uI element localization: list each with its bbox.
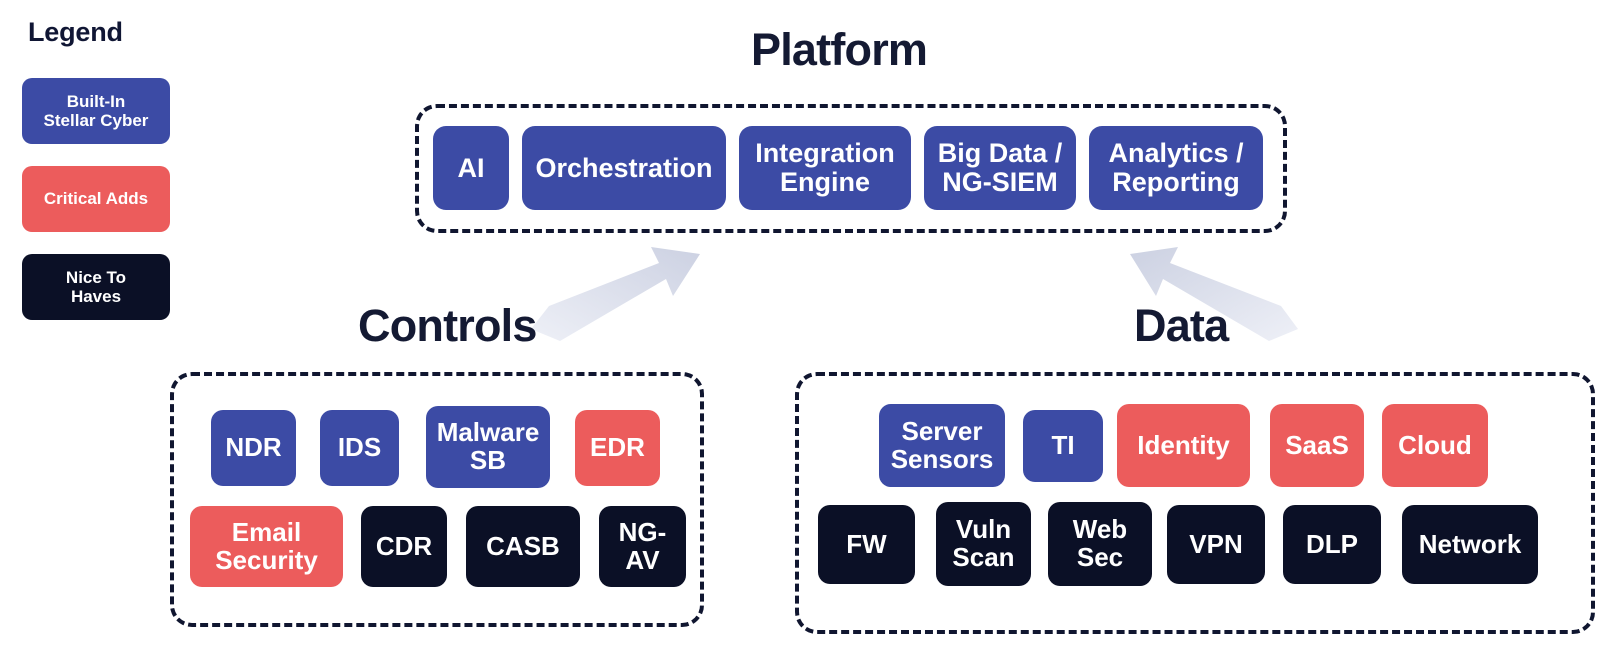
node-label: AI (458, 154, 485, 183)
node-label: VPN (1189, 531, 1242, 559)
controls-node-ids[interactable]: IDS (320, 410, 399, 486)
controls-node-malware-sb[interactable]: Malware SB (426, 406, 550, 488)
data-node-saas[interactable]: SaaS (1270, 404, 1364, 487)
legend-item-label: Built-In Stellar Cyber (44, 92, 149, 130)
platform-node-ai[interactable]: AI (433, 126, 509, 210)
diagram-canvas: Legend Built-In Stellar Cyber Critical A… (0, 0, 1604, 646)
platform-section-title: Platform (751, 24, 927, 76)
controls-node-edr[interactable]: EDR (575, 410, 660, 486)
node-label: EDR (590, 434, 645, 462)
node-label: Integration Engine (755, 139, 895, 196)
node-label: Cloud (1398, 432, 1472, 460)
node-label: Vuln Scan (952, 516, 1014, 571)
legend-item-label: Critical Adds (44, 189, 148, 208)
node-label: Orchestration (535, 154, 712, 183)
data-section-title: Data (1134, 300, 1228, 352)
data-node-server-sensors[interactable]: Server Sensors (879, 404, 1005, 487)
data-node-vpn[interactable]: VPN (1167, 505, 1265, 584)
data-node-identity[interactable]: Identity (1117, 404, 1250, 487)
data-node-dlp[interactable]: DLP (1283, 505, 1381, 584)
node-label: DLP (1306, 531, 1358, 559)
controls-section-title: Controls (358, 300, 537, 352)
node-label: Identity (1137, 432, 1229, 460)
node-label: Big Data / NG-SIEM (938, 139, 1063, 196)
data-node-cloud[interactable]: Cloud (1382, 404, 1488, 487)
controls-node-email-security[interactable]: Email Security (190, 506, 343, 587)
platform-node-big-data-ng-siem[interactable]: Big Data / NG-SIEM (924, 126, 1076, 210)
data-node-ti[interactable]: TI (1023, 410, 1103, 482)
data-node-web-sec[interactable]: Web Sec (1048, 502, 1152, 586)
controls-node-cdr[interactable]: CDR (361, 506, 447, 587)
legend-item-nice-to-haves[interactable]: Nice To Haves (22, 254, 170, 320)
data-node-fw[interactable]: FW (818, 505, 915, 584)
node-label: Email Security (215, 519, 318, 574)
controls-node-ndr[interactable]: NDR (211, 410, 296, 486)
legend-title: Legend (28, 17, 123, 48)
controls-to-platform-arrow (531, 247, 700, 341)
node-label: NDR (225, 434, 281, 462)
data-node-network[interactable]: Network (1402, 505, 1538, 584)
platform-node-orchestration[interactable]: Orchestration (522, 126, 726, 210)
node-label: TI (1051, 432, 1074, 460)
node-label: IDS (338, 434, 381, 462)
node-label: Malware SB (437, 419, 540, 474)
node-label: NG- AV (619, 519, 667, 574)
node-label: FW (846, 531, 886, 559)
controls-node-ng-av[interactable]: NG- AV (599, 506, 686, 587)
platform-node-integration-engine[interactable]: Integration Engine (739, 126, 911, 210)
legend-item-built-in-stellar-cyber[interactable]: Built-In Stellar Cyber (22, 78, 170, 144)
data-node-vuln-scan[interactable]: Vuln Scan (936, 502, 1031, 586)
node-label: SaaS (1285, 432, 1349, 460)
legend-item-critical-adds[interactable]: Critical Adds (22, 166, 170, 232)
node-label: Server Sensors (891, 418, 994, 473)
node-label: CASB (486, 533, 560, 561)
node-label: CDR (376, 533, 432, 561)
controls-node-casb[interactable]: CASB (466, 506, 580, 587)
node-label: Network (1419, 531, 1522, 559)
node-label: Analytics / Reporting (1108, 139, 1243, 196)
platform-node-analytics-reporting[interactable]: Analytics / Reporting (1089, 126, 1263, 210)
node-label: Web Sec (1073, 516, 1127, 571)
legend-item-label: Nice To Haves (66, 268, 126, 306)
